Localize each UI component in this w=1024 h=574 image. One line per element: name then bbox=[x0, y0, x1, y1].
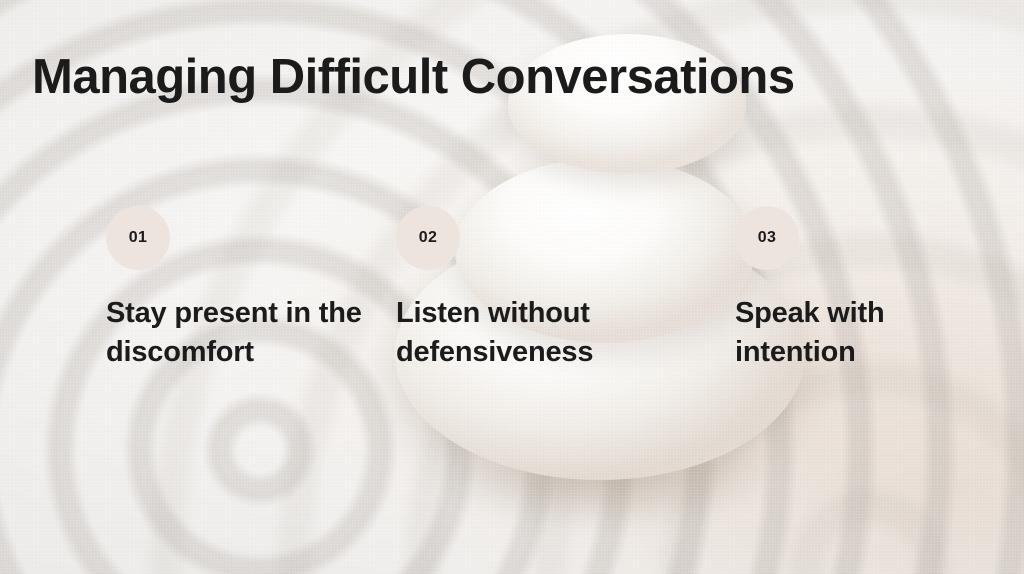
key-point-3: 03 Speak with intention bbox=[735, 206, 985, 371]
point-heading-3: Speak with intention bbox=[735, 294, 985, 371]
key-point-1: 01 Stay present in the discomfort bbox=[106, 206, 376, 371]
point-heading-2: Listen without defensiveness bbox=[396, 294, 676, 371]
point-number-3: 03 bbox=[758, 229, 776, 247]
presentation-slide: Managing Difficult Conversations 01 Stay… bbox=[0, 0, 1024, 574]
point-number-2: 02 bbox=[419, 229, 437, 247]
point-number-1: 01 bbox=[129, 229, 147, 247]
slide-content: Managing Difficult Conversations 01 Stay… bbox=[0, 0, 1024, 574]
point-number-badge-1: 01 bbox=[106, 206, 170, 270]
key-point-2: 02 Listen without defensiveness bbox=[396, 206, 676, 371]
point-heading-1: Stay present in the discomfort bbox=[106, 294, 376, 371]
slide-title: Managing Difficult Conversations bbox=[32, 52, 795, 103]
point-number-badge-3: 03 bbox=[735, 206, 799, 270]
point-number-badge-2: 02 bbox=[396, 206, 460, 270]
